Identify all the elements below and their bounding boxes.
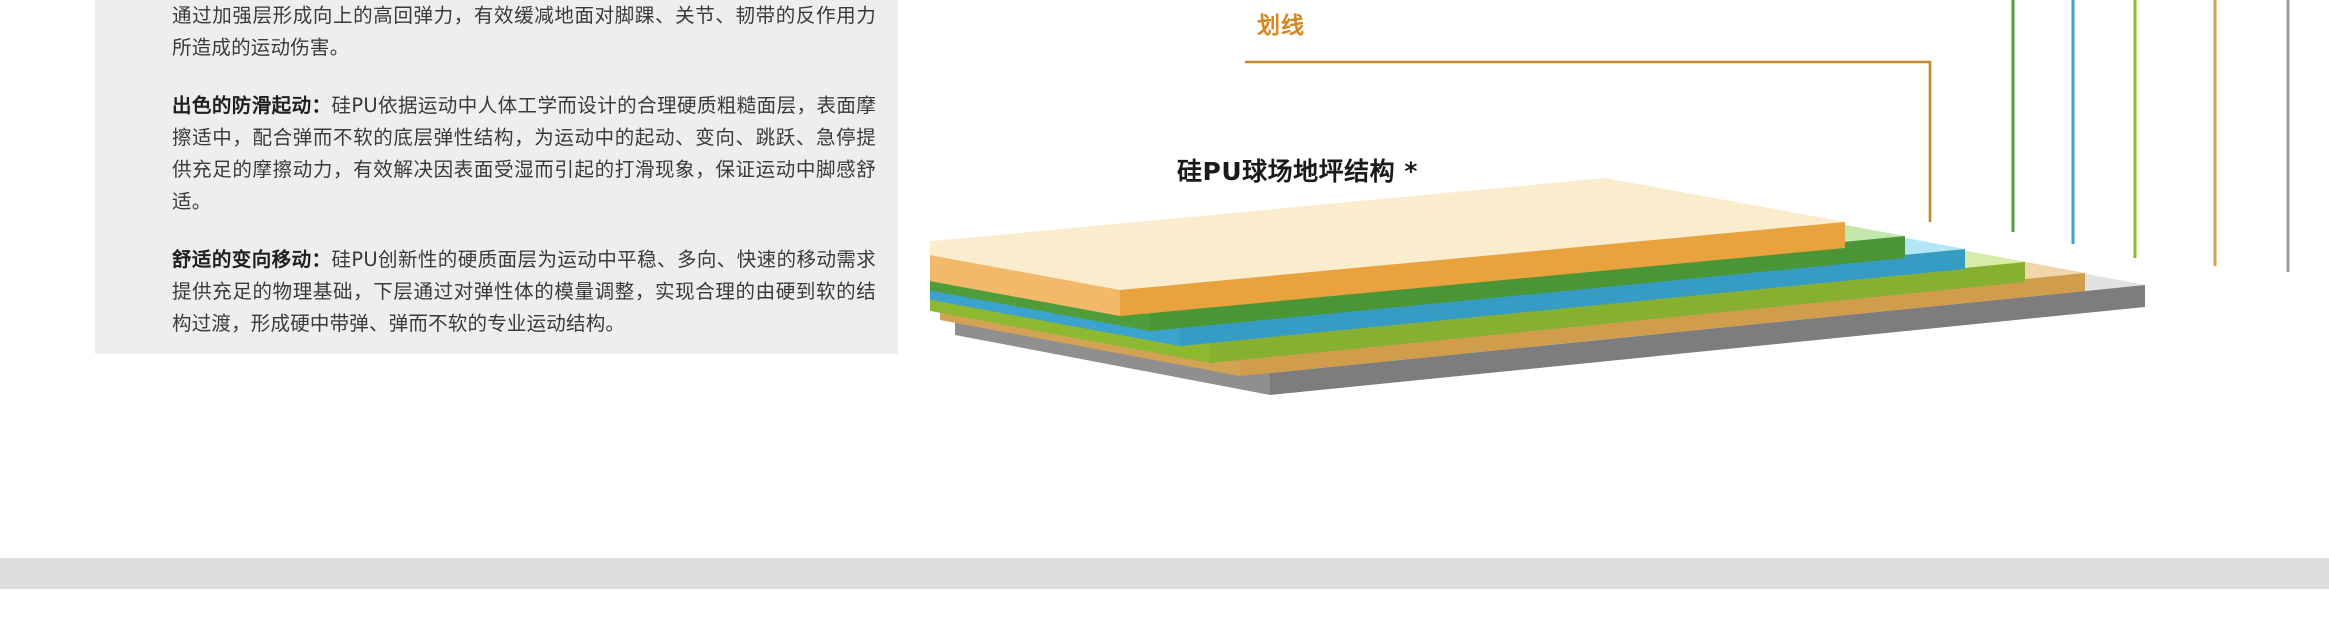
description-text-block: 通过加强层形成向上的高回弹力，有效缓减地面对脚踝、关节、韧带的反作用力所造成的运…	[95, 0, 898, 340]
page-root: 通过加强层形成向上的高回弹力，有效缓减地面对脚踝、关节、韧带的反作用力所造成的运…	[0, 0, 2329, 619]
paragraph-lead: 舒适的变向移动：	[172, 248, 331, 271]
court-structure-diagram: 划线 硅PU球场地坪结构 *	[930, 0, 2329, 400]
paragraph-anti-slip: 出色的防滑起动：硅PU依据运动中人体工学而设计的合理硬质粗糙面层，表面摩擦适中，…	[172, 90, 876, 218]
layer-stack-illustration	[930, 0, 2329, 400]
description-panel: 通过加强层形成向上的高回弹力，有效缓减地面对脚踝、关节、韧带的反作用力所造成的运…	[95, 0, 898, 354]
paragraph-rebound: 通过加强层形成向上的高回弹力，有效缓减地面对脚踝、关节、韧带的反作用力所造成的运…	[172, 0, 876, 64]
diagram-title: 硅PU球场地坪结构 *	[1177, 152, 1418, 188]
paragraph-lead: 出色的防滑起动：	[172, 94, 331, 117]
paragraph-body: 通过加强层形成向上的高回弹力，有效缓减地面对脚踝、关节、韧带的反作用力所造成的运…	[172, 4, 876, 59]
paragraph-direction-change: 舒适的变向移动：硅PU创新性的硬质面层为运动中平稳、多向、快速的移动需求提供充足…	[172, 244, 876, 340]
callout-label-line-marking: 划线	[1257, 6, 1305, 40]
bottom-divider-band	[0, 558, 2329, 589]
